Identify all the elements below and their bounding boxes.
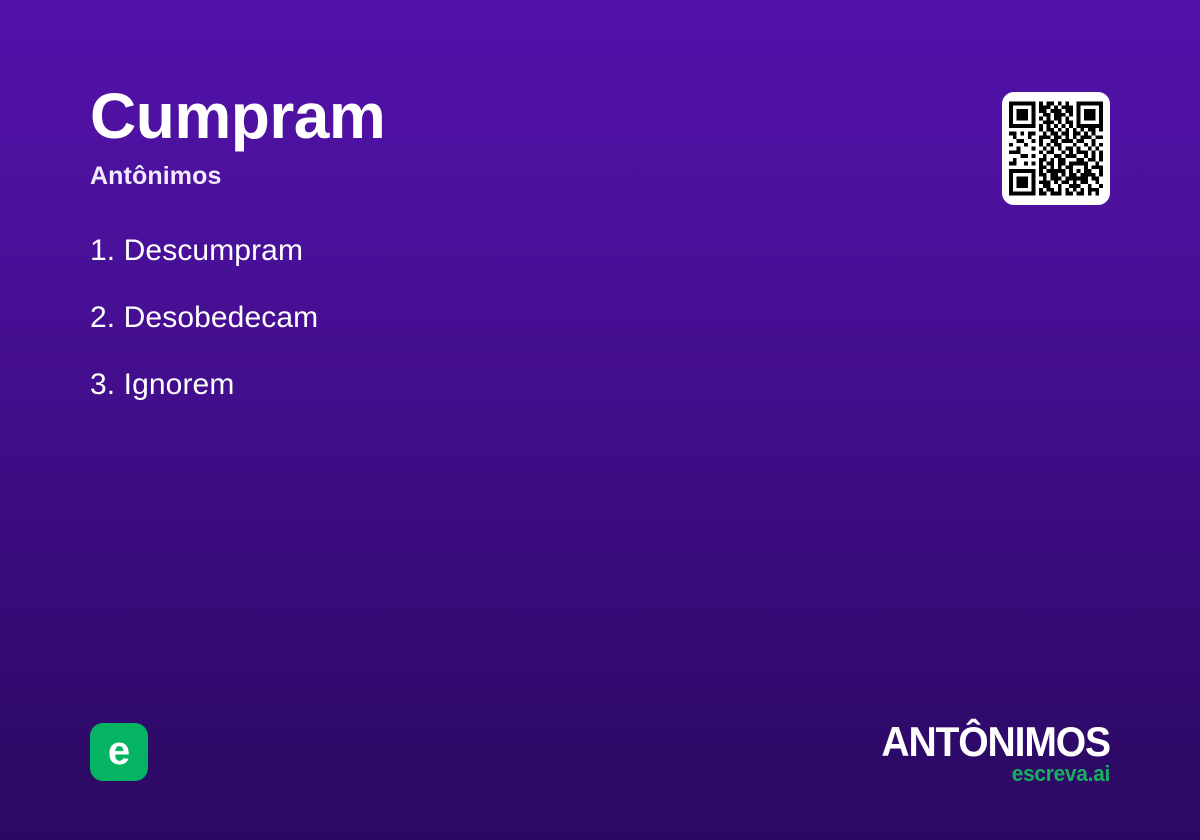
list-item: 1. Descumpram (90, 236, 890, 266)
list-item-index: 1. (90, 234, 115, 267)
brand-lockup: ANTÔNIMOS escreva.ai (780, 722, 1110, 785)
antonyms-card: Cumpram Antônimos 1. Descumpram 2. Desob… (0, 0, 1200, 840)
list-item-label: Ignorem (124, 368, 235, 401)
qr-code-icon (1009, 99, 1103, 198)
brand-name: ANTÔNIMOS (803, 722, 1110, 762)
list-item-index: 3. (90, 368, 115, 401)
list-item: 2. Desobedecam (90, 303, 890, 333)
brand-domain: escreva.ai (797, 763, 1111, 785)
app-logo-letter: e (108, 731, 130, 771)
escreva-app-logo[interactable]: e (90, 723, 148, 781)
antonym-list: 1. Descumpram 2. Desobedecam 3. Ignorem (90, 236, 890, 400)
list-item-label: Descumpram (124, 234, 303, 267)
list-item: 3. Ignorem (90, 370, 890, 400)
headline-block: Cumpram Antônimos (90, 84, 870, 191)
list-item-index: 2. (90, 301, 115, 334)
page-subtitle: Antônimos (90, 162, 870, 191)
page-title: Cumpram (90, 84, 870, 148)
list-item-label: Desobedecam (124, 301, 319, 334)
qr-code[interactable] (1002, 92, 1110, 205)
